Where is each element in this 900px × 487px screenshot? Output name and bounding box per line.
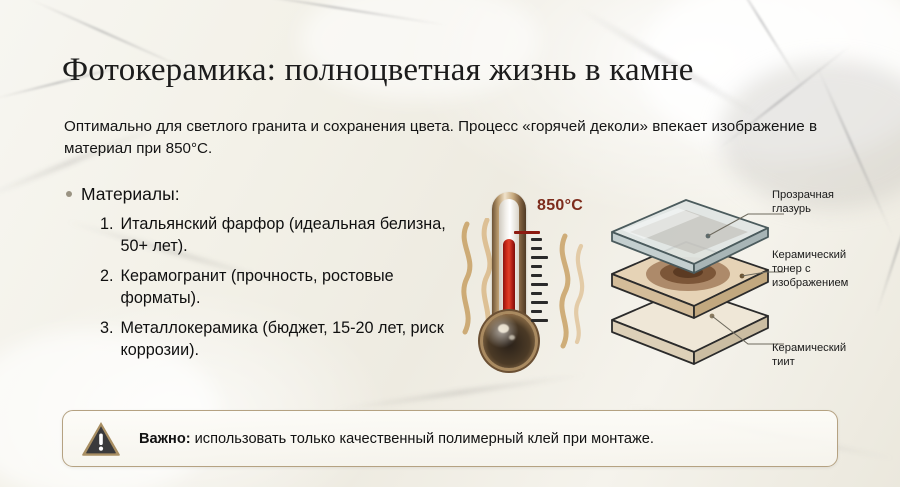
layer-diagram [608,192,788,372]
page-subtitle: Оптимально для светлого гранита и сохран… [64,116,854,160]
warning-body: использовать только качественный полимер… [191,431,654,447]
list-item: 1. Итальянский фарфор (идеальная белизна… [100,214,456,257]
warning-prefix: Важно: [139,431,191,447]
thermometer-tick [531,283,548,286]
list-item-number: 2. [100,266,114,288]
thermometer-tick [531,274,542,277]
callout-label-glaze: Прозрачная глазурь [772,188,834,216]
list-item-number: 1. [100,214,114,236]
materials-section: Материалы: 1. Итальянский фарфор (идеаль… [66,184,456,370]
mercury-level-indicator [514,231,540,234]
thermometer-tick [531,292,542,295]
list-item: 2. Керамогранит (прочность, ростовые фор… [100,266,456,309]
materials-heading-row: Материалы: [66,184,456,205]
callout-label-toner: Керамический тонер с изображением [772,248,848,291]
materials-list: 1. Итальянский фарфор (идеальная белизна… [66,214,456,361]
thermometer-mercury [503,239,515,325]
list-item-text: Металлокерамика (бюджет, 15-20 лет, риск… [121,318,456,361]
thermometer-tick [531,310,542,313]
temperature-label: 850°C [537,197,583,215]
thermometer-tube [499,199,519,325]
list-item-text: Керамогранит (прочность, ростовые формат… [121,266,456,309]
thermometer-tick [531,319,548,322]
thermometer-tick [531,265,542,268]
bullet-dot-icon [66,191,72,197]
infographic-canvas: Фотокерамика: полноцветная жизнь в камне… [0,0,900,487]
bulb-highlight [498,324,509,333]
list-item-number: 3. [100,318,114,340]
thermometer-body [492,192,526,327]
heat-wave-icon [551,232,591,352]
list-item-text: Итальянский фарфор (идеальная белизна, 5… [121,214,456,257]
warning-banner: Важно: использовать только качественный … [62,410,838,467]
bulb-highlight [509,335,515,340]
thermometer-illustration: 850°C [455,186,615,378]
thermometer-tick [531,238,542,241]
materials-heading-label: Материалы: [81,184,180,205]
page-title: Фотокерамика: полноцветная жизнь в камне [62,52,694,89]
warning-triangle-icon [81,420,121,457]
thermometer-tick [531,256,548,259]
thermometer-tick [531,301,548,304]
list-item: 3. Металлокерамика (бюджет, 15-20 лет, р… [100,318,456,361]
thermometer-tick [531,247,542,250]
callout-label-base: Керамический тиит [772,341,846,369]
thermometer-bulb [483,314,535,368]
warning-text: Важно: использовать только качественный … [139,431,654,447]
